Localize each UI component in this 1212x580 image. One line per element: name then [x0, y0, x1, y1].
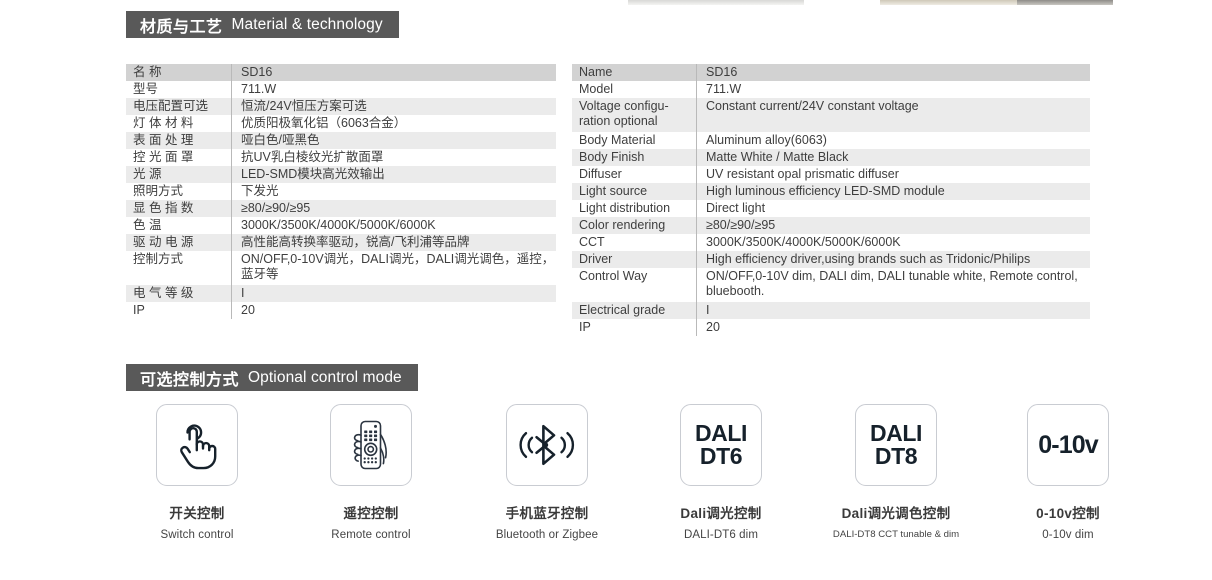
control-mode-icon-box [330, 404, 412, 486]
spec-value: 下发光 [232, 183, 557, 200]
table-row: Control Way ON/OFF,0-10V dim, DALI dim, … [572, 268, 1090, 302]
table-row: 显 色 指 数 ≥80/≥90/≥95 [126, 200, 556, 217]
spec-key: Voltage configu-ration optional [572, 98, 697, 132]
spec-key: Body Material [572, 132, 697, 149]
spec-value: Aluminum alloy(6063) [697, 132, 1091, 149]
spec-key: Light distribution [572, 200, 697, 217]
table-row: 电压配置可选 恒流/24V恒压方案可选 [126, 98, 556, 115]
spec-table-chinese: 名 称 SD16 型号 711.W 电压配置可选 恒流/24V恒压方案可选 灯 … [126, 64, 556, 319]
control-mode-caption: 0-10v控制 0-10v dim [993, 506, 1143, 542]
spec-value: ≥80/≥90/≥95 [232, 200, 557, 217]
spec-key: 显 色 指 数 [126, 200, 232, 217]
table-row: CCT 3000K/3500K/4000K/5000K/6000K [572, 234, 1090, 251]
table-row: Body Material Aluminum alloy(6063) [572, 132, 1090, 149]
control-mode-item-bluetooth[interactable]: 手机蓝牙控制 Bluetooth or Zigbee [472, 404, 622, 542]
table-row: 控 光 面 罩 抗UV乳白棱纹光扩散面罩 [126, 149, 556, 166]
section-header-control-mode: 可选控制方式 Optional control mode [126, 364, 418, 391]
bluetooth-wireless-icon [517, 423, 577, 467]
control-mode-label-en: Remote control [296, 528, 446, 542]
spec-value: SD16 [697, 64, 1091, 81]
control-mode-caption: 开关控制 Switch control [122, 506, 272, 542]
table-row: Electrical grade I [572, 302, 1090, 319]
table-row: Model 711.W [572, 81, 1090, 98]
dali-dt6-icon: DALI DT6 [695, 422, 747, 468]
control-mode-label-en: DALI-DT6 dim [646, 528, 796, 542]
table-row: IP 20 [572, 319, 1090, 336]
table-row: Light source High luminous efficiency LE… [572, 183, 1090, 200]
spec-table-english: Name SD16 Model 711.W Voltage configu-ra… [572, 64, 1090, 336]
table-row: 光 源 LED-SMD模块高光效输出 [126, 166, 556, 183]
spec-value: 恒流/24V恒压方案可选 [232, 98, 557, 115]
table-row: 色 温 3000K/3500K/4000K/5000K/6000K [126, 217, 556, 234]
spec-key: Light source [572, 183, 697, 200]
control-mode-icon-box [506, 404, 588, 486]
dali-dt6-line2: DT6 [695, 445, 747, 468]
control-mode-item-remote[interactable]: 遥控控制 Remote control [296, 404, 446, 542]
control-mode-icon-box: 0-10v [1027, 404, 1109, 486]
spec-key: Diffuser [572, 166, 697, 183]
spec-key: 电 气 等 级 [126, 285, 232, 302]
section-header-material: 材质与工艺 Material & technology [126, 11, 399, 38]
spec-value: ≥80/≥90/≥95 [697, 217, 1091, 234]
hand-tap-icon [172, 419, 222, 471]
dali-dt8-icon: DALI DT8 [870, 422, 922, 468]
spec-value: 高性能高转换率驱动，锐高/飞利浦等品牌 [232, 234, 557, 251]
control-mode-icon-box [156, 404, 238, 486]
table-row: Light distribution Direct light [572, 200, 1090, 217]
control-mode-caption: Dali调光控制 DALI-DT6 dim [646, 506, 796, 542]
dali-dt8-line2: DT8 [870, 445, 922, 468]
spec-value: 20 [697, 319, 1091, 336]
dali-dt6-line1: DALI [695, 422, 747, 445]
spec-key: 照明方式 [126, 183, 232, 200]
spec-key: Driver [572, 251, 697, 268]
spec-value: LED-SMD模块高光效输出 [232, 166, 557, 183]
spec-key: 电压配置可选 [126, 98, 232, 115]
table-row: 表 面 处 理 哑白色/哑黑色 [126, 132, 556, 149]
control-mode-item-dali-dt8[interactable]: DALI DT8 Dali调光调色控制 DALI-DT8 CCT tunable… [821, 404, 971, 542]
control-mode-caption: 遥控控制 Remote control [296, 506, 446, 542]
table-row: IP 20 [126, 302, 556, 319]
control-mode-label-cn: 0-10v控制 [993, 506, 1143, 522]
table-row: 控制方式 ON/OFF,0-10V调光，DALI调光，DALI调光调色，遥控，蓝… [126, 251, 556, 285]
control-mode-item-0-10v[interactable]: 0-10v 0-10v控制 0-10v dim [993, 404, 1143, 542]
table-row: Body Finish Matte White / Matte Black [572, 149, 1090, 166]
control-mode-label-cn: Dali调光控制 [646, 506, 796, 522]
section-header-material-en: Material & technology [232, 16, 383, 34]
spec-value: 哑白色/哑黑色 [232, 132, 557, 149]
table-row: 名 称 SD16 [126, 64, 556, 81]
zero-ten-volt-icon: 0-10v [1038, 433, 1097, 458]
control-mode-label-cn: Dali调光调色控制 [821, 506, 971, 522]
control-mode-label-cn: 开关控制 [122, 506, 272, 522]
spec-value: ON/OFF,0-10V调光，DALI调光，DALI调光调色，遥控，蓝牙等 [232, 251, 557, 285]
control-mode-label-en: Switch control [122, 528, 272, 542]
control-mode-item-dali-dt6[interactable]: DALI DT6 Dali调光控制 DALI-DT6 dim [646, 404, 796, 542]
spec-key: 表 面 处 理 [126, 132, 232, 149]
control-mode-item-switch[interactable]: 开关控制 Switch control [122, 404, 272, 542]
table-row: Diffuser UV resistant opal prismatic dif… [572, 166, 1090, 183]
spec-key: 灯 体 材 料 [126, 115, 232, 132]
spec-sheet-page: 材质与工艺 Material & technology 名 称 SD16 型号 … [0, 0, 1212, 580]
table-row: Color rendering ≥80/≥90/≥95 [572, 217, 1090, 234]
table-row: 驱 动 电 源 高性能高转换率驱动，锐高/飞利浦等品牌 [126, 234, 556, 251]
spec-key: Body Finish [572, 149, 697, 166]
control-mode-label-cn: 手机蓝牙控制 [472, 506, 622, 522]
table-row: 电 气 等 级 I [126, 285, 556, 302]
spec-key: Name [572, 64, 697, 81]
table-row: 灯 体 材 料 优质阳极氧化铝（6063合金） [126, 115, 556, 132]
spec-value: 711.W [232, 81, 557, 98]
spec-value: UV resistant opal prismatic diffuser [697, 166, 1091, 183]
section-header-control-en: Optional control mode [248, 369, 402, 387]
table-row: 照明方式 下发光 [126, 183, 556, 200]
spec-key: CCT [572, 234, 697, 251]
control-mode-icon-box: DALI DT8 [855, 404, 937, 486]
top-image-remnant-3 [1017, 0, 1113, 5]
control-mode-label-en: Bluetooth or Zigbee [472, 528, 622, 542]
control-mode-label-en: 0-10v dim [993, 528, 1143, 542]
top-image-remnant-2 [880, 0, 1017, 5]
control-mode-caption: 手机蓝牙控制 Bluetooth or Zigbee [472, 506, 622, 542]
spec-key: Electrical grade [572, 302, 697, 319]
control-mode-strip: 开关控制 Switch control [126, 404, 1090, 564]
control-mode-icon-box: DALI DT6 [680, 404, 762, 486]
spec-value: Constant current/24V constant voltage [697, 98, 1091, 132]
top-image-remnant-1 [628, 0, 804, 5]
zero-ten-volt-label: 0-10v [1038, 433, 1097, 458]
spec-value: High luminous efficiency LED-SMD module [697, 183, 1091, 200]
spec-key: 控制方式 [126, 251, 232, 285]
spec-key: Control Way [572, 268, 697, 302]
table-row: Voltage configu-ration optional Constant… [572, 98, 1090, 132]
dali-dt8-line1: DALI [870, 422, 922, 445]
spec-key: 色 温 [126, 217, 232, 234]
spec-value: High efficiency driver,using brands such… [697, 251, 1091, 268]
spec-value: Direct light [697, 200, 1091, 217]
spec-key: 控 光 面 罩 [126, 149, 232, 166]
spec-value: 优质阳极氧化铝（6063合金） [232, 115, 557, 132]
spec-key: IP [572, 319, 697, 336]
spec-value: 711.W [697, 81, 1091, 98]
spec-value: 20 [232, 302, 557, 319]
spec-key: 光 源 [126, 166, 232, 183]
spec-value: 抗UV乳白棱纹光扩散面罩 [232, 149, 557, 166]
spec-key: 名 称 [126, 64, 232, 81]
spec-value: I [232, 285, 557, 302]
table-row: 型号 711.W [126, 81, 556, 98]
spec-value: SD16 [232, 64, 557, 81]
spec-value: 3000K/3500K/4000K/5000K/6000K [232, 217, 557, 234]
table-row: Driver High efficiency driver,using bran… [572, 251, 1090, 268]
spec-key: Model [572, 81, 697, 98]
spec-value: I [697, 302, 1091, 319]
control-mode-caption: Dali调光调色控制 DALI-DT8 CCT tunable & dim [821, 506, 971, 542]
table-row: Name SD16 [572, 64, 1090, 81]
spec-key: Color rendering [572, 217, 697, 234]
spec-value: 3000K/3500K/4000K/5000K/6000K [697, 234, 1091, 251]
control-mode-label-cn: 遥控控制 [296, 506, 446, 522]
spec-key: 型号 [126, 81, 232, 98]
spec-key: 驱 动 电 源 [126, 234, 232, 251]
spec-value: ON/OFF,0-10V dim, DALI dim, DALI tunable… [697, 268, 1091, 302]
spec-value: Matte White / Matte Black [697, 149, 1091, 166]
section-header-control-cn: 可选控制方式 [140, 366, 239, 390]
remote-control-icon [344, 417, 398, 473]
spec-key: IP [126, 302, 232, 319]
section-header-material-cn: 材质与工艺 [140, 13, 223, 37]
control-mode-label-en: DALI-DT8 CCT tunable & dim [821, 528, 971, 542]
